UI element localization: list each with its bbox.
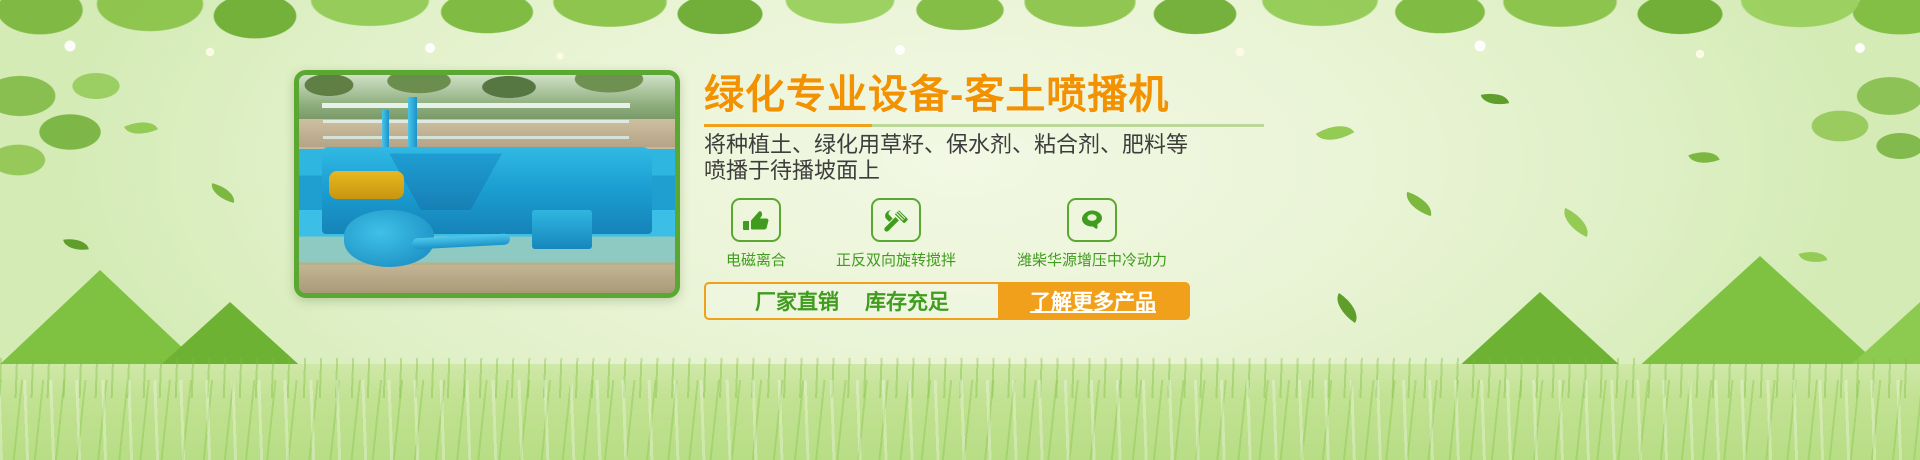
page-title: 绿化专业设备-客土喷播机 — [704, 72, 1284, 118]
subtitle-line-2: 喷播于待播坡面上 — [704, 158, 1284, 184]
feature-label: 正反双向旋转搅拌 — [836, 249, 956, 270]
cta-tag-direct-sale: 厂家直销 — [755, 286, 839, 316]
floating-leaf-icon — [1481, 89, 1509, 108]
title-divider — [704, 124, 1264, 127]
floating-leaf-icon — [1316, 117, 1354, 150]
floating-leaf-icon — [63, 236, 89, 252]
subtitle-line-1: 将种植土、绿化用草籽、保水剂、粘合剂、肥料等 — [704, 132, 1284, 158]
promo-banner: 绿化专业设备-客土喷播机 将种植土、绿化用草籽、保水剂、粘合剂、肥料等 喷播于待… — [0, 0, 1920, 460]
grass-tufts — [0, 380, 1920, 460]
right-foliage-decoration — [1700, 0, 1920, 170]
thumbs-up-icon — [731, 198, 781, 242]
product-photo — [294, 70, 680, 298]
left-foliage-decoration — [0, 0, 250, 200]
feature-item-engine: 潍柴华源增压中冷动力 — [984, 198, 1200, 270]
banner-content: 绿化专业设备-客土喷播机 将种植土、绿化用草籽、保水剂、粘合剂、肥料等 喷播于待… — [704, 72, 1284, 320]
engine-icon — [1067, 198, 1117, 242]
cta-bar: 厂家直销 库存充足 了解更多产品 — [704, 282, 1190, 320]
feature-item-clutch: 电磁离合 — [704, 198, 808, 270]
feature-label: 潍柴华源增压中冷动力 — [1017, 249, 1167, 270]
feature-label: 电磁离合 — [726, 249, 786, 270]
floating-leaf-icon — [1558, 208, 1594, 237]
feature-item-mixing: 正反双向旋转搅拌 — [808, 198, 984, 270]
floating-leaf-icon — [1402, 192, 1435, 216]
cta-tags: 厂家直销 库存充足 — [706, 286, 998, 316]
feature-list: 电磁离合 正反双向旋转搅拌 — [704, 198, 1284, 270]
cta-tag-in-stock: 库存充足 — [865, 286, 949, 316]
wrench-screwdriver-icon — [871, 198, 921, 242]
learn-more-button[interactable]: 了解更多产品 — [998, 284, 1188, 318]
